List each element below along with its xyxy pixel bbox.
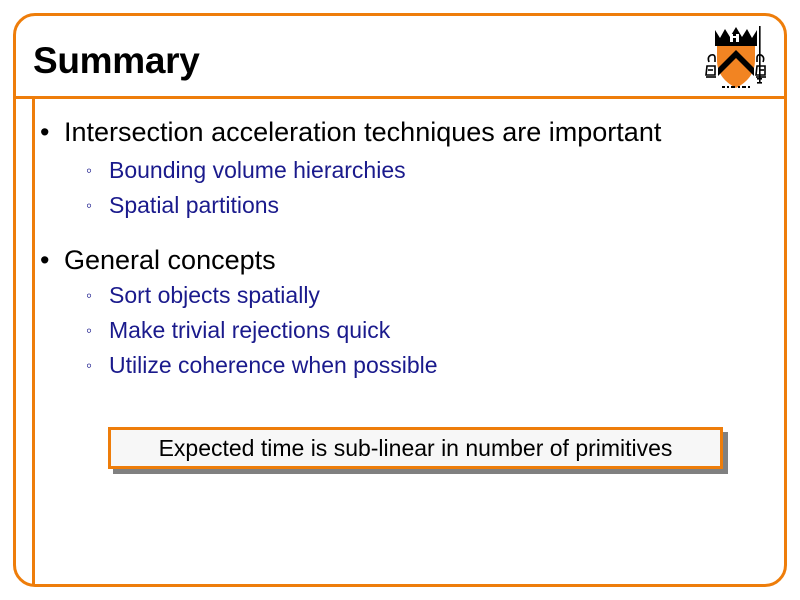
sub-bullet-marker-icon: ◦ — [86, 317, 109, 345]
bullet-marker-icon: • — [40, 245, 64, 275]
bullet-level1: • Intersection acceleration techniques a… — [40, 117, 661, 147]
bullet-level2-label: Make trivial rejections quick — [109, 317, 390, 343]
bullet-level2-label: Spatial partitions — [109, 192, 279, 218]
sub-bullet-marker-icon: ◦ — [86, 352, 109, 380]
bullet-level2-label: Utilize coherence when possible — [109, 352, 438, 378]
bullet-level2-label: Sort objects spatially — [109, 282, 320, 308]
sub-bullet-marker-icon: ◦ — [86, 282, 109, 310]
bullet-level2: ◦ Bounding volume hierarchies — [86, 157, 406, 185]
bullet-level1: • General concepts — [40, 245, 276, 275]
body-vertical-rule — [32, 99, 35, 584]
bullet-level2: ◦ Sort objects spatially — [86, 282, 320, 310]
bullet-level1-label: General concepts — [64, 245, 276, 275]
bullet-level2-label: Bounding volume hierarchies — [109, 157, 406, 183]
header-divider — [13, 96, 787, 99]
bullet-level2: ◦ Utilize coherence when possible — [86, 352, 438, 380]
princeton-shield-logo — [702, 24, 770, 94]
bullet-level1-label: Intersection acceleration techniques are… — [64, 117, 661, 147]
callout-box-frame: Expected time is sub-linear in number of… — [108, 427, 723, 469]
bullet-marker-icon: • — [40, 117, 64, 147]
slide: Summary — [0, 0, 800, 600]
callout-text: Expected time is sub-linear in number of… — [159, 435, 673, 462]
slide-header: Summary — [13, 13, 787, 98]
bullet-level2: ◦ Spatial partitions — [86, 192, 279, 220]
page-title: Summary — [33, 40, 200, 82]
sub-bullet-marker-icon: ◦ — [86, 192, 109, 220]
bullet-level2: ◦ Make trivial rejections quick — [86, 317, 390, 345]
sub-bullet-marker-icon: ◦ — [86, 157, 109, 185]
callout-box: Expected time is sub-linear in number of… — [108, 427, 723, 469]
